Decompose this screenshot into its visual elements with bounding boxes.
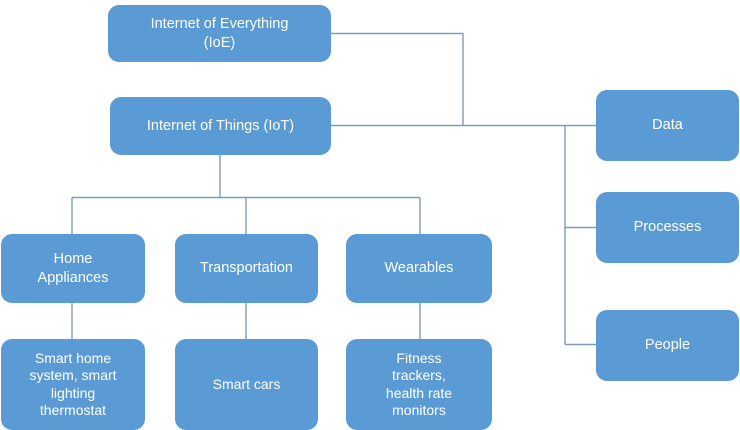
- node-smart-home-system[interactable]: Smart home system, smart lighting thermo…: [1, 339, 145, 430]
- node-smart-cars[interactable]: Smart cars: [175, 339, 318, 430]
- node-wearables[interactable]: Wearables: [346, 234, 492, 303]
- diagram-canvas: Internet of Everything (IoE) Internet of…: [0, 0, 740, 430]
- node-fitness-trackers[interactable]: Fitness trackers, health rate monitors: [346, 339, 492, 430]
- node-data[interactable]: Data: [596, 90, 739, 161]
- node-internet-of-things[interactable]: Internet of Things (IoT): [110, 97, 331, 155]
- node-internet-of-everything[interactable]: Internet of Everything (IoE): [108, 5, 331, 62]
- node-transportation[interactable]: Transportation: [175, 234, 318, 303]
- node-home-appliances[interactable]: Home Appliances: [1, 234, 145, 303]
- node-people[interactable]: People: [596, 310, 739, 381]
- node-processes[interactable]: Processes: [596, 192, 739, 263]
- link-ioe-to-bus: [331, 34, 463, 126]
